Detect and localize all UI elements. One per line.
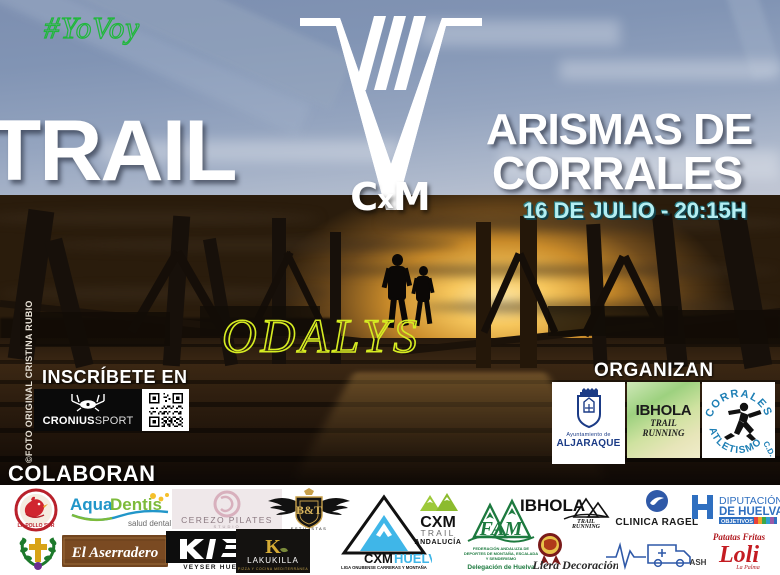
runner-emblem-icon: CORRALES ATLETISMO C.D. bbox=[703, 383, 775, 457]
chicken-icon: LA POLLO SUR bbox=[12, 488, 60, 532]
svg-text:B&T: B&T bbox=[296, 503, 322, 517]
hashtag-yovoy: #YoVoy bbox=[44, 12, 140, 43]
organizers-label: ORGANIZAN bbox=[594, 360, 714, 382]
laurel-cross-icon bbox=[14, 530, 62, 572]
bridge-lattice bbox=[20, 312, 170, 346]
event-poster: CxM TRAIL ARISMAS DE CORRALES 16 DE JULI… bbox=[0, 0, 780, 575]
cronius-wordmark: CRONIUSSPORT bbox=[43, 415, 134, 431]
participant-name: ODALYS bbox=[222, 313, 421, 361]
svg-text:Y SENDERISMO: Y SENDERISMO bbox=[486, 556, 517, 561]
patatas-loli-logo: Patatas Fritas Loli La Palma bbox=[700, 529, 778, 573]
el-aserradero-sign: El Aserradero bbox=[60, 531, 170, 571]
coat-of-arms-icon bbox=[572, 388, 606, 430]
cloud-wisp bbox=[560, 60, 780, 80]
sponsor-ibhola-trail-running[interactable]: IBHOLA TRAIL RUNNING bbox=[518, 491, 612, 529]
cxm-m: M bbox=[393, 175, 430, 219]
svg-text:ANDALUCÍA: ANDALUCÍA bbox=[414, 537, 461, 545]
svg-text:RUNNING: RUNNING bbox=[571, 524, 601, 529]
svg-text:El Aserradero: El Aserradero bbox=[71, 545, 159, 561]
cronius-logo: CRONIUSSPORT bbox=[34, 389, 142, 431]
svg-text:LAKUKILLA: LAKUKILLA bbox=[247, 556, 299, 565]
svg-text:LIGA ONUBENSE CARRERAS Y MONTA: LIGA ONUBENSE CARRERAS Y MONTAÑA bbox=[341, 565, 427, 570]
organizers-row: Ayuntamiento de ALJARAQUE IBHOLA TRAIL R… bbox=[552, 382, 775, 464]
collaborators-label: COLABORAN bbox=[8, 461, 156, 487]
title-trail: TRAIL bbox=[0, 108, 236, 194]
svg-text:CXM: CXM bbox=[364, 551, 393, 566]
svg-text:HUELVA: HUELVA bbox=[394, 551, 432, 566]
lakukilla-logo: K LAKUKILLA PIZZA Y COCINA MEDITERRÁNEA bbox=[236, 529, 310, 573]
bridge-post bbox=[476, 222, 491, 368]
cloud-band bbox=[40, 239, 460, 251]
svg-text:CORRALES: CORRALES bbox=[703, 388, 774, 419]
crab-icon bbox=[68, 392, 108, 412]
organizer-aljaraque[interactable]: Ayuntamiento de ALJARAQUE bbox=[552, 382, 625, 464]
sponsor-aquadentis[interactable]: Aqua Dentis salud dental bbox=[68, 493, 172, 529]
aquadentis-logo: Aqua Dentis salud dental bbox=[68, 493, 172, 529]
organizer-corrales[interactable]: CORRALES ATLETISMO C.D. bbox=[702, 382, 775, 458]
bridge-lattice bbox=[548, 306, 678, 336]
diputacion-huelva-logo: DIPUTACIÓN DE HUELVA OBJETIVOS bbox=[688, 489, 780, 527]
event-date-time: 16 DE JULIO - 20:15H bbox=[523, 200, 747, 222]
bridge-lattice bbox=[664, 310, 780, 344]
title-marismas-de: ARISMAS DE bbox=[486, 108, 752, 152]
svg-text:La Palma: La Palma bbox=[735, 565, 760, 571]
svg-text:Aqua: Aqua bbox=[70, 495, 113, 514]
register-label: INSCRÍBETE EN bbox=[42, 367, 188, 388]
sponsor-el-aserradero[interactable]: El Aserradero bbox=[60, 531, 170, 571]
svg-text:IBHOLA: IBHOLA bbox=[520, 496, 585, 515]
svg-text:OBJETIVOS: OBJETIVOS bbox=[721, 519, 753, 525]
cronius-sport-badge[interactable]: CRONIUSSPORT bbox=[34, 389, 189, 431]
collaborator-logos: LA POLLO SUR Aqua Dentis bbox=[0, 487, 780, 575]
ibhola-trail-logo: IBHOLA TRAIL RUNNING bbox=[518, 491, 612, 529]
svg-text:PIZZA Y COCINA MEDITERRÁNEA: PIZZA Y COCINA MEDITERRÁNEA bbox=[238, 567, 309, 571]
sponsor-ash-ambulancias[interactable]: ASH bbox=[604, 533, 706, 571]
svg-text:DE HUELVA: DE HUELVA bbox=[719, 506, 780, 518]
svg-text:CLINICA RAGEL: CLINICA RAGEL bbox=[615, 517, 698, 528]
cxm-c: C bbox=[350, 175, 377, 219]
aljaraque-line2: ALJARAQUE bbox=[556, 438, 620, 449]
title-corrales: CORRALES bbox=[492, 150, 742, 196]
cxm-logo-mark: CxM bbox=[330, 178, 450, 216]
svg-text:K: K bbox=[265, 536, 281, 558]
organizer-ibhola[interactable]: IBHOLA TRAIL RUNNING bbox=[627, 382, 700, 458]
cloud-band bbox=[300, 265, 780, 276]
svg-text:salud dental: salud dental bbox=[128, 519, 171, 528]
ibhola-sub2: RUNNING bbox=[642, 429, 684, 438]
cxm-x: x bbox=[377, 185, 393, 215]
sponsor-hermandad[interactable] bbox=[12, 529, 64, 573]
cronius-bold: CRONIUS bbox=[43, 415, 95, 427]
sponsor-diputacion-huelva[interactable]: DIPUTACIÓN DE HUELVA OBJETIVOS bbox=[688, 489, 780, 527]
svg-text:TRAIL: TRAIL bbox=[420, 528, 455, 538]
cronius-light: SPORT bbox=[95, 415, 134, 427]
svg-text:FAM: FAM bbox=[479, 518, 524, 540]
qr-code-icon bbox=[146, 391, 186, 429]
ibhola-name: IBHOLA bbox=[636, 402, 692, 419]
ambulance-ecg-icon: ASH bbox=[604, 533, 706, 571]
sponsor-pollo-sur[interactable]: LA POLLO SUR bbox=[8, 488, 64, 532]
photo-credit: ©FOTO ORIGINAL CRISTINA RUBIO bbox=[24, 303, 34, 463]
sponsor-lakukilla[interactable]: K LAKUKILLA PIZZA Y COCINA MEDITERRÁNEA bbox=[236, 529, 310, 573]
sponsor-patatas-loli[interactable]: Patatas Fritas Loli La Palma bbox=[700, 529, 778, 573]
svg-text:C.D.: C.D. bbox=[761, 440, 775, 457]
svg-text:Patatas Fritas: Patatas Fritas bbox=[713, 532, 766, 542]
